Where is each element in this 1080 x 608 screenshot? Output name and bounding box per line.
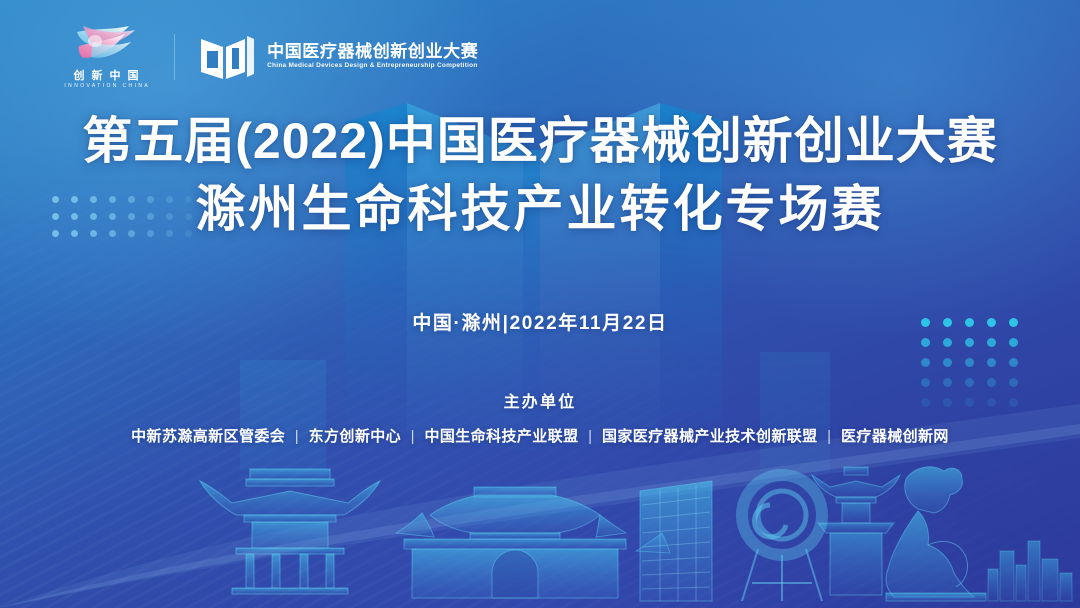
ring-sculpture [742, 475, 822, 601]
title-block: 第五届(2022)中国医疗器械创新创业大赛 滁州生命科技产业转化专场赛 [0, 112, 1080, 238]
header-logos: 创新中国 INNOVATION CHINA 中国医疗器械创新创业大赛 [62, 24, 478, 89]
open-book-mark [199, 32, 255, 82]
skyline-silhouette [0, 433, 1080, 608]
temple-tower [812, 467, 900, 595]
organizer-item: 医疗器械创新网 [841, 428, 949, 445]
logo-innovation-china[interactable]: 创新中国 INNOVATION CHINA [62, 24, 150, 89]
organizer-separator: | [406, 428, 420, 445]
organizer-title: 主办单位 [0, 388, 1080, 412]
logo-divider [174, 34, 175, 80]
poster-canvas: 创新中国 INNOVATION CHINA 中国医疗器械创新创业大赛 [0, 0, 1080, 608]
light-swoosh [0, 308, 1080, 608]
organizer-item: 中新苏滁高新区管委会 [131, 428, 285, 445]
glow-bottom-center [90, 348, 990, 608]
organizer-item: 中国生命科技产业联盟 [424, 428, 578, 445]
chinese-city-gate [396, 487, 626, 598]
organizer-separator: | [822, 428, 836, 445]
organizer-item: 国家医疗器械产业技术创新联盟 [602, 428, 818, 445]
organizer-separator: | [290, 428, 304, 445]
logo-innovation-china-en: INNOVATION CHINA [62, 84, 150, 89]
city-skyline-strip [988, 541, 1072, 601]
organizer-block: 主办单位 中新苏滁高新区管委会 | 东方创新中心 | 中国生命科技产业联盟 | … [0, 388, 1080, 446]
title-line-1: 第五届(2022)中国医疗器械创新创业大赛 [0, 112, 1080, 170]
logo-innovation-china-cn: 创新中国 [67, 71, 146, 82]
date-location-bar: 中国·滁州|2022年11月22日 [0, 308, 1080, 335]
modern-office-tower [640, 481, 712, 601]
logo-competition[interactable]: 中国医疗器械创新创业大赛 China Medical Devices Desig… [199, 32, 478, 82]
open-book-backdrop [0, 0, 1080, 608]
dove-wing-mark [69, 24, 143, 68]
logo-competition-en: China Medical Devices Design & Entrepren… [267, 63, 478, 70]
organizer-separator: | [583, 428, 597, 445]
organizer-list: 中新苏滁高新区管委会 | 东方创新中心 | 中国生命科技产业联盟 | 国家医疗器… [0, 425, 1080, 446]
chinese-pavilion [200, 469, 380, 594]
organizer-item: 东方创新中心 [309, 428, 401, 445]
merlion-statue [886, 467, 986, 601]
paifang-archway-main [636, 533, 670, 553]
logo-competition-cn: 中国医疗器械创新创业大赛 [267, 43, 478, 60]
title-line-2: 滁州生命科技产业转化专场赛 [0, 180, 1080, 238]
